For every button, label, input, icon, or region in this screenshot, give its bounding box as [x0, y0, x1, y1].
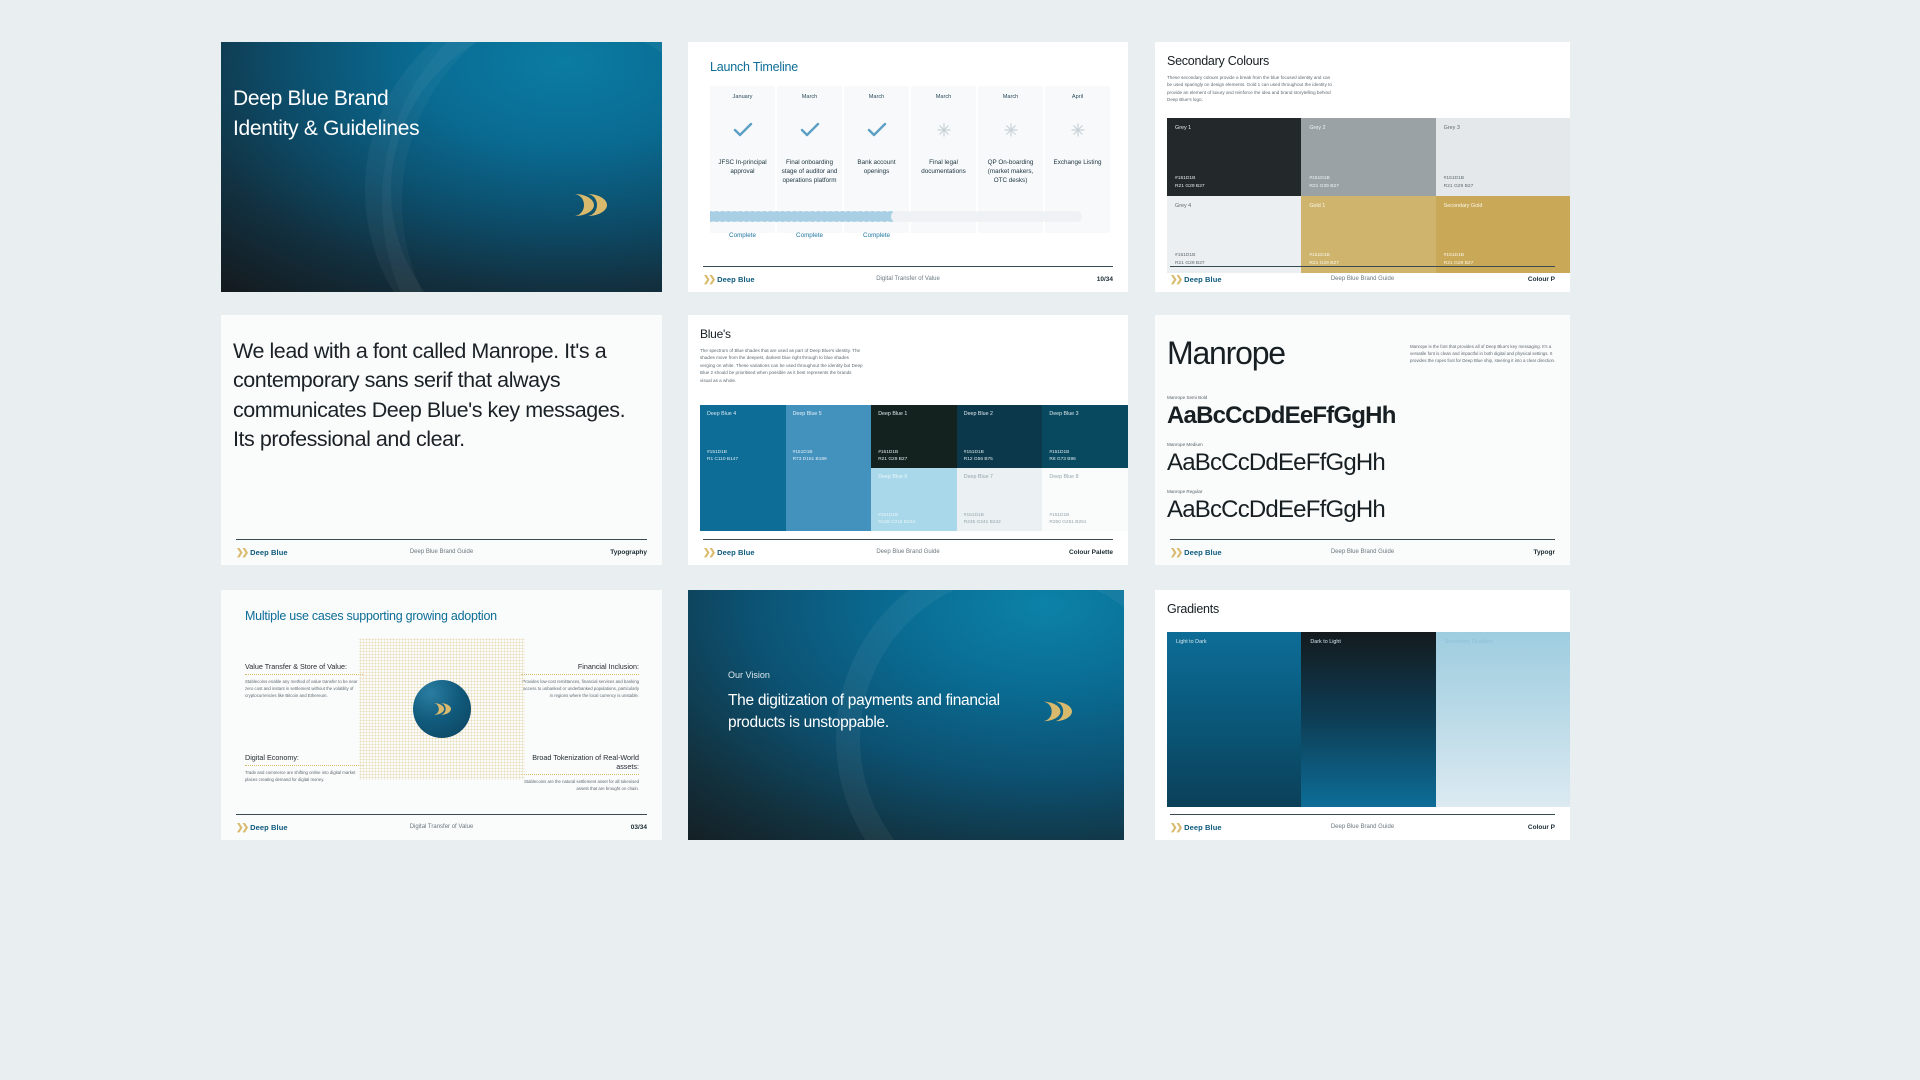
- gradient-swatch[interactable]: Light to Dark: [1167, 632, 1301, 807]
- colour-swatch[interactable]: Deep Blue 2#151D1BR12 G56 B75: [957, 405, 1043, 468]
- cover-title-line-2: Identity & Guidelines: [233, 117, 419, 140]
- timeline-month: January: [733, 94, 753, 100]
- colour-column: Deep Blue 2#151D1BR12 G56 B75Deep Blue 7…: [957, 405, 1043, 531]
- gradient-swatch[interactable]: Dark to Light: [1301, 632, 1435, 807]
- empty-cell: [786, 468, 872, 531]
- timeline-month: April: [1072, 94, 1083, 100]
- slide-manrope-typeface[interactable]: Manrope Manrope is the font that provide…: [1155, 315, 1570, 565]
- colour-column: Deep Blue 4#151D1BR1 C110 B147: [700, 405, 786, 531]
- pending-spinner-icon: [936, 117, 952, 143]
- swatch-values: #151D1BR21 G29 B27: [1175, 175, 1205, 190]
- timeline-progress-bar: [710, 210, 1110, 222]
- colour-swatch[interactable]: Grey 4#151D1BR21 G29 B27: [1167, 196, 1301, 273]
- slide-launch-timeline[interactable]: Launch Timeline JanuaryJFSC In-principal…: [688, 42, 1128, 292]
- typography-statement: We lead with a font called Manrope. It's…: [233, 337, 648, 455]
- use-cases-title: Multiple use cases supporting growing ad…: [245, 608, 497, 624]
- specimen-caption: Manrope Semi Bold: [1167, 395, 1396, 400]
- colour-swatch[interactable]: Secondary Gold#151D1BR21 G29 B27: [1436, 196, 1570, 273]
- status-badge: Complete: [777, 232, 842, 239]
- specimen-glyphs: AaBcCcDdEeFfGgHh: [1167, 404, 1396, 428]
- use-case-body: Stablecoins enable any method of value t…: [245, 679, 363, 700]
- manrope-note: Manrope is the font that provides all of…: [1410, 343, 1558, 364]
- gradient-grid: Light to DarkDark to LightSecondary Grad…: [1167, 632, 1570, 807]
- footer-center-label: Deep Blue Brand Guide: [1155, 276, 1570, 282]
- use-case-body: Stablecoins are the natural settlement a…: [521, 779, 639, 793]
- timeline-milestone-label: Final legal documentations: [915, 159, 972, 177]
- slide-footer: ❯❯ Deep Blue Deep Blue Brand Guide Colou…: [1155, 266, 1570, 292]
- swatch-name: Deep Blue 2: [964, 411, 1036, 417]
- use-case-body: Provides low-cost remittances, financial…: [521, 679, 639, 700]
- colour-column: Deep Blue 1#151D1BR21 G29 B27Deep Blue 6…: [871, 405, 957, 531]
- timeline-month: March: [869, 94, 885, 100]
- swatch-name: Deep Blue 6: [878, 474, 950, 480]
- slide-footer: ❯❯ Deep Blue Digital Transfer of Value 1…: [688, 266, 1128, 292]
- blues-title: Blue's: [700, 327, 731, 341]
- slide-use-cases[interactable]: Multiple use cases supporting growing ad…: [221, 590, 662, 840]
- specimen-glyphs: AaBcCcDdEeFfGgHh: [1167, 451, 1385, 475]
- specimen-caption: Manrope Regular: [1167, 489, 1385, 494]
- slide-blues-palette[interactable]: Blue's The spectrum of Blue shades that …: [688, 315, 1128, 565]
- colour-swatch[interactable]: Grey 3#151D1BR21 G29 B27: [1436, 118, 1570, 196]
- footer-center-label: Deep Blue Brand Guide: [688, 549, 1128, 555]
- timeline-milestone-label: Exchange Listing: [1054, 159, 1102, 168]
- slide-footer: ❯❯ Deep Blue Deep Blue Brand Guide Typog…: [1155, 539, 1570, 565]
- status-badge: Complete: [710, 232, 775, 239]
- use-case-heading: Digital Economy:: [245, 753, 363, 762]
- swatch-name: Grey 2: [1309, 125, 1427, 131]
- timeline-month: March: [936, 94, 952, 100]
- status-badge: [1045, 232, 1110, 239]
- cover-arc-2: [382, 42, 662, 292]
- slide-gradients[interactable]: Gradients Light to DarkDark to LightSeco…: [1155, 590, 1570, 840]
- colour-swatch[interactable]: Gold 1#151D1BR21 G29 B27: [1301, 196, 1435, 273]
- use-case-item: Value Transfer & Store of Value:Stableco…: [245, 662, 363, 700]
- footer-section-label: Colour P: [1528, 824, 1555, 831]
- secondary-swatch-grid: Grey 1#151D1BR21 G29 B27Grey 4#151D1BR21…: [1167, 118, 1570, 273]
- check-icon: [867, 117, 887, 143]
- type-specimen: Manrope Semi BoldAaBcCcDdEeFfGgHh: [1167, 395, 1396, 428]
- secondary-body: These secondary colours provide a break …: [1167, 74, 1332, 104]
- slide-footer: ❯❯ Deep Blue Deep Blue Brand Guide Colou…: [1155, 814, 1570, 840]
- footer-page-number: 03/34: [631, 824, 647, 831]
- footer-center-label: Digital Transfer of Value: [221, 824, 662, 830]
- swatch-name: Deep Blue 7: [964, 474, 1036, 480]
- swatch-values: #151D1BR168 C216 B233: [878, 512, 915, 526]
- timeline-milestone-label: Final onboarding stage of auditor and op…: [781, 159, 838, 186]
- status-badge: [911, 232, 976, 239]
- vision-kicker: Our Vision: [728, 670, 770, 680]
- colour-swatch[interactable]: Deep Blue 5#151D1BR73 D151 B189: [786, 405, 872, 468]
- type-specimen: Manrope RegularAaBcCcDdEeFfGgHh: [1167, 489, 1385, 522]
- footer-page-number: 10/34: [1097, 276, 1113, 283]
- empty-cell: [700, 468, 786, 531]
- swatch-values: #151D1BR21 G29 B27: [1309, 175, 1339, 190]
- swatch-values: #151D1BR250 G251 B251: [1049, 512, 1086, 526]
- swatch-values: #151D1BR21 G29 B27: [1175, 252, 1205, 267]
- colour-swatch[interactable]: Grey 1#151D1BR21 G29 B27: [1167, 118, 1301, 196]
- colour-column: Grey 1#151D1BR21 G29 B27Grey 4#151D1BR21…: [1167, 118, 1301, 273]
- swatch-name: Deep Blue 4: [707, 411, 779, 417]
- footer-center-label: Digital Transfer of Value: [688, 276, 1128, 282]
- slide-secondary-colours[interactable]: Secondary Colours These secondary colour…: [1155, 42, 1570, 292]
- colour-swatch[interactable]: Deep Blue 1#151D1BR21 G29 B27: [871, 405, 957, 468]
- slide-deck-board: Deep Blue Brand Identity & Guidelines La…: [0, 0, 1920, 1080]
- swatch-values: #151D1BR12 G56 B75: [964, 449, 993, 463]
- status-badge: Complete: [844, 232, 909, 239]
- swatch-name: Grey 1: [1175, 125, 1293, 131]
- footer-section-label: Colour P: [1528, 276, 1555, 283]
- slide-footer: ❯❯ Deep Blue Deep Blue Brand Guide Colou…: [688, 539, 1128, 565]
- swatch-name: Deep Blue 1: [878, 411, 950, 417]
- footer-center-label: Deep Blue Brand Guide: [221, 549, 662, 555]
- colour-swatch[interactable]: Deep Blue 6#151D1BR168 C216 B233: [871, 468, 957, 531]
- specimen-glyphs: AaBcCcDdEeFfGgHh: [1167, 498, 1385, 522]
- colour-swatch[interactable]: Grey 2#151D1BR21 G29 B27: [1301, 118, 1435, 196]
- colour-swatch[interactable]: Deep Blue 8#151D1BR250 G251 B251: [1042, 468, 1128, 531]
- footer-center-label: Deep Blue Brand Guide: [1155, 824, 1570, 830]
- swatch-values: #151D1BR1 C110 B147: [707, 449, 738, 463]
- timeline-title: Launch Timeline: [710, 60, 798, 74]
- globe-sphere: [413, 680, 471, 738]
- swatch-values: #151D1BR73 D151 B189: [793, 449, 827, 463]
- colour-swatch[interactable]: Deep Blue 7#151D1BR235 G241 B242: [957, 468, 1043, 531]
- slide-footer: ❯❯ Deep Blue Digital Transfer of Value 0…: [221, 814, 662, 840]
- page-title: Deep Blue Brand Identity & Guidelines: [233, 84, 419, 144]
- swatch-values: #151D1BR235 G241 B242: [964, 512, 1001, 526]
- specimen-caption: Manrope Medium: [1167, 442, 1385, 447]
- deep-blue-moon-logo-icon: [573, 192, 607, 223]
- check-icon: [733, 117, 753, 143]
- type-specimen: Manrope MediumAaBcCcDdEeFfGgHh: [1167, 442, 1385, 475]
- use-case-body: Trade and commerce are shifting online i…: [245, 770, 363, 784]
- swatch-name: Secondary Gold: [1444, 203, 1562, 209]
- slide-vision[interactable]: Our Vision The digitization of payments …: [688, 590, 1124, 840]
- use-case-item: Digital Economy:Trade and commerce are s…: [245, 753, 363, 784]
- swatch-values: #151D1BR8 G73 B96: [1049, 449, 1075, 463]
- deep-blue-moon-logo-icon: [1042, 700, 1072, 728]
- swatch-name: Grey 4: [1175, 203, 1293, 209]
- gradient-name: Secondary Gradient: [1445, 639, 1561, 645]
- secondary-title: Secondary Colours: [1167, 54, 1269, 68]
- swatch-values: #151D1BR21 G29 B27: [1444, 252, 1474, 267]
- swatch-name: Deep Blue 3: [1049, 411, 1121, 417]
- timeline-month: March: [802, 94, 818, 100]
- status-badge: [978, 232, 1043, 239]
- timeline-month: March: [1003, 94, 1019, 100]
- divider: [245, 765, 363, 766]
- use-case-item: Broad Tokenization of Real-World assets:…: [521, 753, 639, 793]
- colour-column: Grey 2#151D1BR21 G29 B27Gold 1#151D1BR21…: [1301, 118, 1435, 273]
- use-case-heading: Financial Inclusion:: [521, 662, 639, 671]
- use-case-heading: Value Transfer & Store of Value:: [245, 662, 363, 671]
- use-case-item: Financial Inclusion:Provides low-cost re…: [521, 662, 639, 700]
- cover-title-line-1: Deep Blue Brand: [233, 87, 388, 110]
- colour-swatch[interactable]: Deep Blue 3#151D1BR8 G73 B96: [1042, 405, 1128, 468]
- gradient-name: Light to Dark: [1176, 639, 1292, 645]
- use-case-heading: Broad Tokenization of Real-World assets:: [521, 753, 639, 771]
- timeline-milestone-label: JFSC In-principal approval: [714, 159, 771, 177]
- manrope-title: Manrope: [1167, 335, 1285, 372]
- colour-column: Deep Blue 3#151D1BR8 G73 B96Deep Blue 8#…: [1042, 405, 1128, 531]
- footer-section-label: Typogr: [1533, 549, 1555, 556]
- gradients-title: Gradients: [1167, 602, 1219, 616]
- slide-footer: ❯❯ Deep Blue Deep Blue Brand Guide Typog…: [221, 539, 662, 565]
- pending-spinner-icon: [1070, 117, 1086, 143]
- gradient-swatch[interactable]: Secondary Gradient: [1436, 632, 1570, 807]
- timeline-milestone-label: QP On-boarding (market makers, OTC desks…: [982, 159, 1039, 186]
- gradient-name: Dark to Light: [1310, 639, 1426, 645]
- footer-section-label: Colour Palette: [1069, 549, 1113, 556]
- swatch-values: #151D1BR21 G29 B27: [1309, 252, 1339, 267]
- check-icon: [800, 117, 820, 143]
- colour-swatch[interactable]: Deep Blue 4#151D1BR1 C110 B147: [700, 405, 786, 468]
- divider: [521, 774, 639, 775]
- colour-column: Grey 3#151D1BR21 G29 B27Secondary Gold#1…: [1436, 118, 1570, 273]
- slide-typography-statement[interactable]: We lead with a font called Manrope. It's…: [221, 315, 662, 565]
- swatch-values: #151D1BR21 G29 B27: [878, 449, 907, 463]
- swatch-name: Deep Blue 8: [1049, 474, 1121, 480]
- divider: [245, 674, 363, 675]
- pending-spinner-icon: [1003, 117, 1019, 143]
- swatch-name: Grey 3: [1444, 125, 1562, 131]
- footer-center-label: Deep Blue Brand Guide: [1155, 549, 1570, 555]
- footer-section-label: Typography: [610, 549, 647, 556]
- progress-pip: [1071, 211, 1082, 222]
- colour-column: Deep Blue 5#151D1BR73 D151 B189: [786, 405, 872, 531]
- swatch-values: #151D1BR21 G29 B27: [1444, 175, 1474, 190]
- vision-statement: The digitization of payments and financi…: [728, 690, 1044, 735]
- swatch-name: Deep Blue 5: [793, 411, 865, 417]
- blues-body: The spectrum of Blue shades that are use…: [700, 347, 863, 384]
- divider: [521, 674, 639, 675]
- swatch-name: Gold 1: [1309, 203, 1427, 209]
- slide-cover[interactable]: Deep Blue Brand Identity & Guidelines: [221, 42, 662, 292]
- timeline-milestone-label: Bank account openings: [848, 159, 905, 177]
- timeline-status-row: CompleteCompleteComplete: [710, 232, 1110, 239]
- blues-swatch-grid: Deep Blue 4#151D1BR1 C110 B147Deep Blue …: [700, 405, 1128, 531]
- globe-graphic: [399, 666, 485, 752]
